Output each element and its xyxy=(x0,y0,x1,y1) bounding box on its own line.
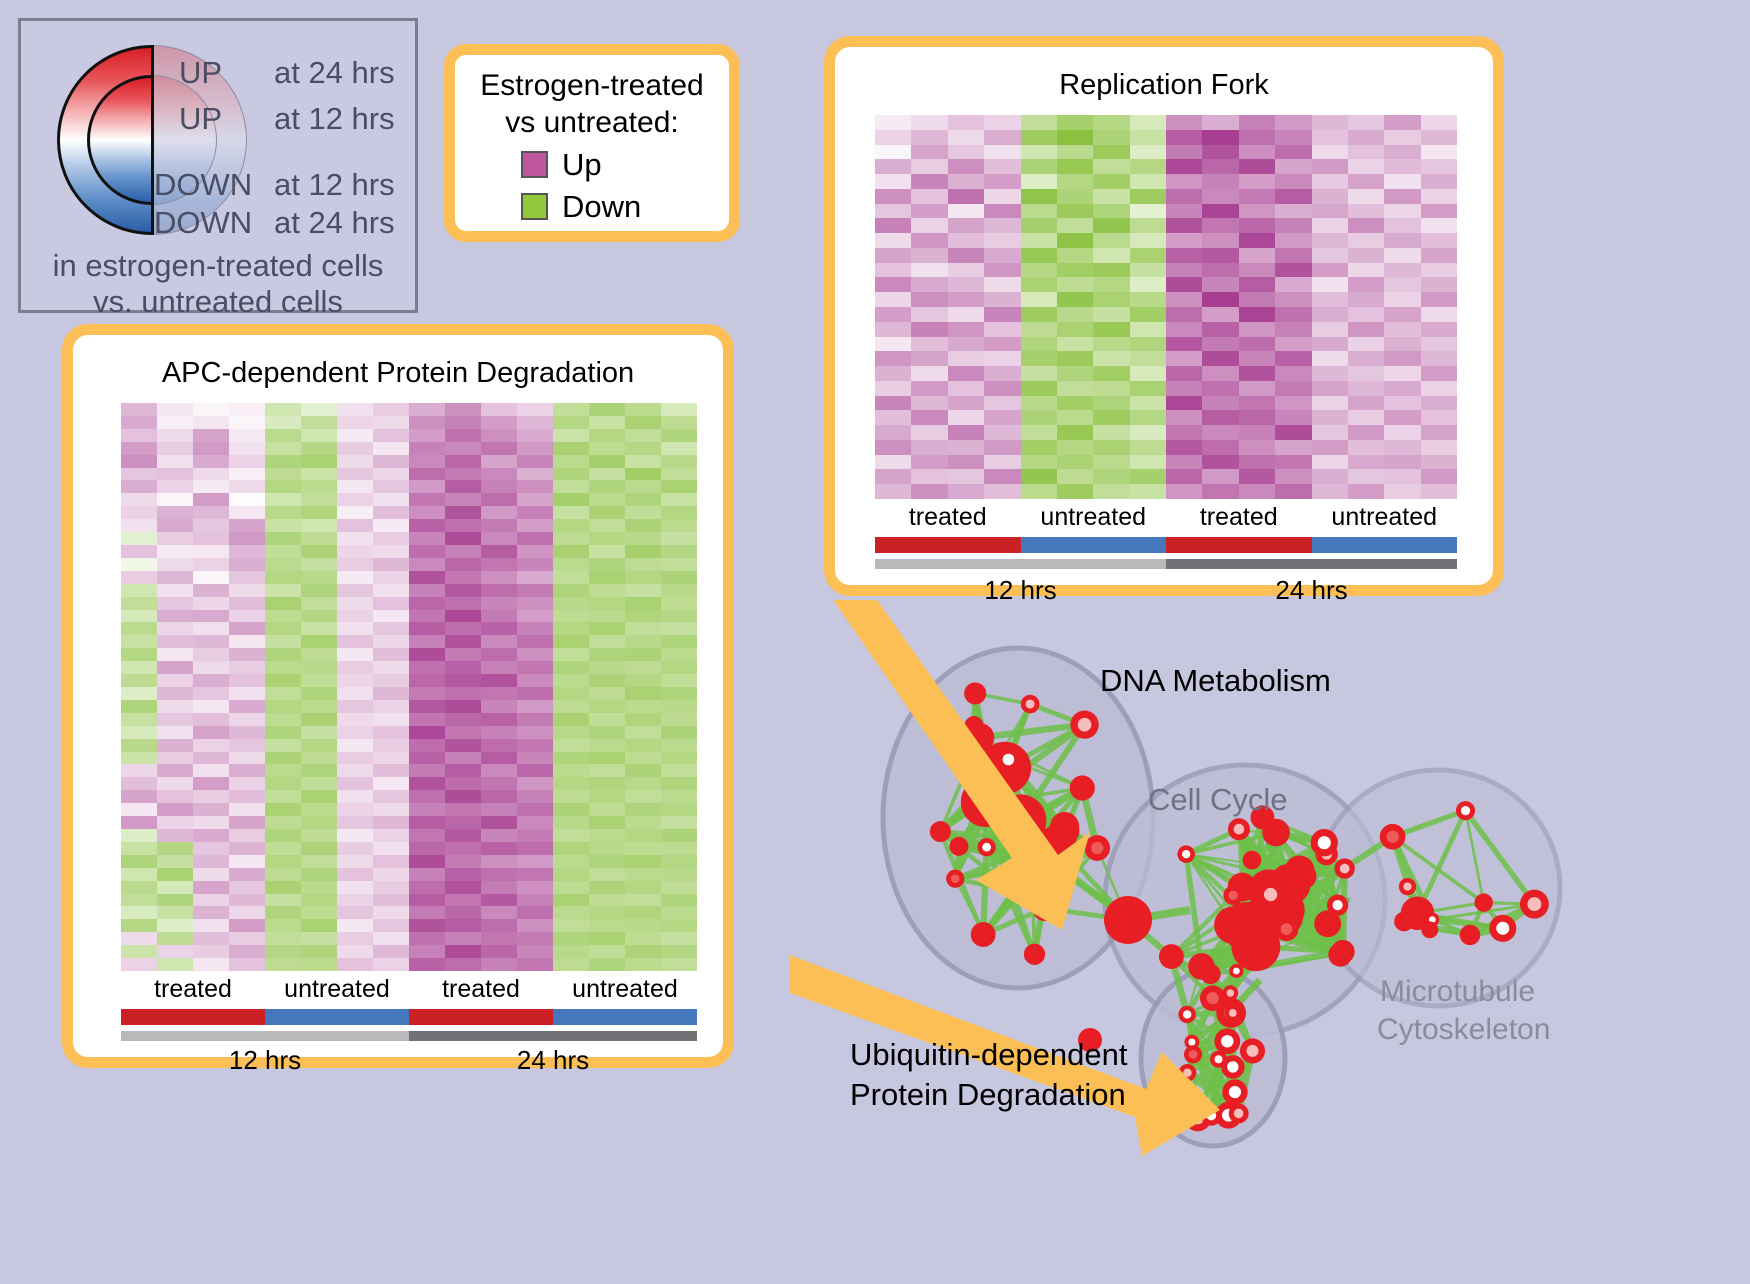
heatmap-cell xyxy=(911,322,947,337)
panel-apc-title: APC-dependent Protein Degradation xyxy=(73,357,723,390)
heatmap-cell xyxy=(517,571,553,584)
heatmap-cell xyxy=(229,622,265,635)
heatmap-cell xyxy=(589,700,625,713)
heatmap-cell xyxy=(1093,440,1129,455)
heatmap-cell xyxy=(481,622,517,635)
heatmap-cell xyxy=(301,945,337,958)
heatmap-cell xyxy=(265,894,301,907)
heatmap-cell xyxy=(553,455,589,468)
heatmap-cell xyxy=(121,958,157,971)
heatmap-cell xyxy=(875,218,911,233)
network-node[interactable] xyxy=(964,682,986,704)
heatmap-cell xyxy=(157,855,193,868)
heatmap-cell xyxy=(193,816,229,829)
heatmap-cell xyxy=(337,648,373,661)
heatmap-cell xyxy=(337,906,373,919)
heatmap-cell xyxy=(625,919,661,932)
heatmap-cell xyxy=(1275,469,1311,484)
heatmap-cell xyxy=(1384,233,1420,248)
heatmap-cell xyxy=(661,803,697,816)
heatmap-cell xyxy=(1239,396,1275,411)
heatmap-cell xyxy=(517,894,553,907)
heatmap-cell xyxy=(121,597,157,610)
network-node[interactable] xyxy=(1394,912,1414,932)
network-node[interactable] xyxy=(1223,885,1243,905)
heatmap-cell xyxy=(1275,381,1311,396)
heatmap-cell xyxy=(409,945,445,958)
network-node[interactable] xyxy=(1399,878,1416,895)
heatmap-cell xyxy=(481,519,517,532)
network-node[interactable] xyxy=(1285,856,1315,886)
heatmap-cell xyxy=(157,752,193,765)
heatmap-cell xyxy=(1384,469,1420,484)
key-direction-up-12: UP xyxy=(179,103,222,134)
network-node[interactable] xyxy=(1188,953,1215,980)
heatmap-cell xyxy=(1384,440,1420,455)
heatmap-cell xyxy=(661,506,697,519)
network-node[interactable] xyxy=(1159,944,1184,969)
heatmap-cell xyxy=(1130,366,1166,381)
heatmap-cell xyxy=(553,597,589,610)
heatmap-cell xyxy=(517,635,553,648)
heatmap-cell xyxy=(1384,189,1420,204)
network-node[interactable] xyxy=(1243,851,1262,870)
network-node[interactable] xyxy=(949,837,968,856)
heatmap-cell xyxy=(157,571,193,584)
heatmap-cell xyxy=(445,919,481,932)
heatmap-cell xyxy=(517,752,553,765)
heatmap-cell xyxy=(911,396,947,411)
heatmap-cell xyxy=(1021,233,1057,248)
heatmap-cell xyxy=(301,661,337,674)
apc-column-labels: treateduntreatedtreateduntreated xyxy=(121,975,697,1004)
network-node[interactable] xyxy=(1421,921,1438,938)
callout-label-ubiquitin-line2: Protein Degradation xyxy=(850,1077,1126,1113)
heatmap-cell xyxy=(193,700,229,713)
heatmap-cell xyxy=(1202,410,1238,425)
heatmap-cell xyxy=(409,584,445,597)
heatmap-cell xyxy=(301,480,337,493)
heatmap-cell xyxy=(1312,425,1348,440)
heatmap-cell xyxy=(337,777,373,790)
heatmap-cell xyxy=(1421,159,1457,174)
heatmap-cell xyxy=(911,425,947,440)
heatmap-cell xyxy=(589,906,625,919)
heatmap-cell xyxy=(157,726,193,739)
network-node[interactable] xyxy=(1489,915,1516,942)
heatmap-cell xyxy=(409,790,445,803)
network-node[interactable] xyxy=(1221,1055,1245,1079)
heatmap-cell xyxy=(481,700,517,713)
heatmap-cell xyxy=(445,532,481,545)
heatmap-cell xyxy=(1057,351,1093,366)
heatmap-cell xyxy=(1421,130,1457,145)
heatmap-cell xyxy=(265,868,301,881)
heatmap-cell xyxy=(517,455,553,468)
time-bar-segment xyxy=(1166,559,1457,569)
treatment-bar-segment xyxy=(553,1009,697,1025)
heatmap-cell xyxy=(229,687,265,700)
network-node[interactable] xyxy=(1520,890,1549,919)
network-node[interactable] xyxy=(979,788,1007,816)
network-node[interactable] xyxy=(1225,1005,1241,1021)
heatmap-cell xyxy=(409,545,445,558)
heatmap-cell xyxy=(301,881,337,894)
heatmap-cell xyxy=(121,816,157,829)
heatmap-cell xyxy=(373,661,409,674)
network-node[interactable] xyxy=(1474,893,1492,911)
heatmap-cell xyxy=(337,506,373,519)
network-node[interactable] xyxy=(930,821,951,842)
heatmap-cell xyxy=(661,622,697,635)
heatmap-cell xyxy=(1348,292,1384,307)
network-node[interactable] xyxy=(1460,925,1481,946)
heatmap-cell xyxy=(517,416,553,429)
heatmap-cell xyxy=(1421,145,1457,160)
heatmap-cell xyxy=(589,855,625,868)
heatmap-cell xyxy=(193,635,229,648)
heatmap-cell xyxy=(301,919,337,932)
heatmap-cell xyxy=(193,442,229,455)
heatmap-cell xyxy=(481,545,517,558)
heatmap-cell xyxy=(948,455,984,470)
network-node[interactable] xyxy=(996,747,1020,771)
heatmap-cell xyxy=(229,945,265,958)
heatmap-cell xyxy=(625,713,661,726)
heatmap-cell xyxy=(121,919,157,932)
heatmap-cell xyxy=(948,115,984,130)
heatmap-cell xyxy=(553,532,589,545)
heatmap-cell xyxy=(984,351,1020,366)
heatmap-cell xyxy=(589,506,625,519)
heatmap-cell xyxy=(1166,322,1202,337)
heatmap-cell xyxy=(1130,248,1166,263)
heatmap-cell xyxy=(1239,130,1275,145)
heatmap-cell xyxy=(1021,440,1057,455)
heatmap-cell xyxy=(948,396,984,411)
heatmap-cell xyxy=(1130,381,1166,396)
heatmap-cell xyxy=(229,764,265,777)
cluster-label-cytoskeleton: Cytoskeleton xyxy=(1377,1013,1550,1047)
heatmap-cell xyxy=(1202,322,1238,337)
heatmap-cell xyxy=(984,159,1020,174)
heatmap-cell xyxy=(337,429,373,442)
heatmap-cell xyxy=(445,635,481,648)
heatmap-cell xyxy=(157,506,193,519)
heatmap-cell xyxy=(517,868,553,881)
heatmap-cell xyxy=(1384,425,1420,440)
heatmap-cell xyxy=(1312,189,1348,204)
heatmap-cell xyxy=(301,958,337,971)
heatmap-cell xyxy=(445,816,481,829)
heatmap-cell xyxy=(193,429,229,442)
network-node[interactable] xyxy=(1222,1079,1248,1105)
heatmap-cell xyxy=(625,803,661,816)
heatmap-cell xyxy=(589,881,625,894)
heatmap-cell xyxy=(373,442,409,455)
network-node[interactable] xyxy=(1380,824,1406,850)
heatmap-cell xyxy=(948,410,984,425)
heatmap-cell xyxy=(589,597,625,610)
heatmap-cell xyxy=(409,416,445,429)
heatmap-cell xyxy=(157,881,193,894)
heatmap-cell xyxy=(1275,455,1311,470)
network-node[interactable] xyxy=(1334,858,1354,878)
heatmap-cell xyxy=(661,429,697,442)
heatmap-cell xyxy=(1202,233,1238,248)
heatmap-cell xyxy=(229,661,265,674)
heatmap-cell xyxy=(229,790,265,803)
heatmap-cell xyxy=(373,648,409,661)
heatmap-cell xyxy=(984,115,1020,130)
pathway-network-diagram: DNA Metabolism Cell Cycle Microtubule Cy… xyxy=(790,600,1750,1279)
heatmap-cell xyxy=(553,932,589,945)
heatmap-cell xyxy=(553,868,589,881)
heatmap-cell xyxy=(193,713,229,726)
heatmap-cell xyxy=(1239,263,1275,278)
network-node[interactable] xyxy=(1214,1028,1240,1054)
heatmap-cell xyxy=(229,752,265,765)
heatmap-cell xyxy=(121,584,157,597)
network-node[interactable] xyxy=(1229,964,1243,978)
heatmap-cell xyxy=(409,855,445,868)
heatmap-cell xyxy=(984,204,1020,219)
heatmap-cell xyxy=(875,145,911,160)
heatmap-cell xyxy=(373,597,409,610)
heatmap-cell xyxy=(875,366,911,381)
network-node[interactable] xyxy=(1240,1038,1265,1063)
heatmap-cell xyxy=(1021,307,1057,322)
heatmap-cell xyxy=(337,881,373,894)
heatmap-cell xyxy=(875,115,911,130)
heatmap-cell xyxy=(265,597,301,610)
heatmap-cell xyxy=(409,661,445,674)
heatmap-cell xyxy=(1093,159,1129,174)
heatmap-cell xyxy=(1093,469,1129,484)
heatmap-cell xyxy=(409,493,445,506)
heatmap-cell xyxy=(1348,351,1384,366)
heatmap-cell xyxy=(553,442,589,455)
heatmap-cell xyxy=(265,610,301,623)
heatmap-cell xyxy=(121,545,157,558)
time-bar-segment xyxy=(409,1031,697,1041)
heatmap-cell xyxy=(1057,292,1093,307)
network-node[interactable] xyxy=(1262,819,1290,847)
heatmap-cell xyxy=(625,855,661,868)
heatmap-cell xyxy=(1312,322,1348,337)
legend-item-up: Up xyxy=(521,149,602,180)
heatmap-cell xyxy=(265,584,301,597)
heatmap-cell xyxy=(1057,410,1093,425)
heatmap-cell xyxy=(481,493,517,506)
heatmap-cell xyxy=(1202,455,1238,470)
heatmap-cell xyxy=(875,351,911,366)
network-node[interactable] xyxy=(1070,775,1095,800)
network-node[interactable] xyxy=(977,838,995,856)
heatmap-cell xyxy=(301,610,337,623)
heatmap-cell xyxy=(948,322,984,337)
heatmap-cell xyxy=(661,571,697,584)
heatmap-cell xyxy=(911,307,947,322)
heatmap-cell xyxy=(121,648,157,661)
heatmap-cell xyxy=(1093,425,1129,440)
network-node[interactable] xyxy=(1314,910,1341,937)
heatmap-cell xyxy=(265,855,301,868)
heatmap-cell xyxy=(517,403,553,416)
heatmap-cell xyxy=(1421,248,1457,263)
heatmap-cell xyxy=(661,674,697,687)
heatmap-cell xyxy=(193,661,229,674)
heatmap-cell xyxy=(1093,115,1129,130)
heatmap-cell xyxy=(1239,174,1275,189)
network-node[interactable] xyxy=(1178,1006,1195,1023)
heatmap-cell xyxy=(1093,322,1129,337)
heatmap-cell xyxy=(265,571,301,584)
heatmap-cell xyxy=(229,894,265,907)
heatmap-cell xyxy=(157,958,193,971)
heatmap-cell xyxy=(1130,218,1166,233)
heatmap-cell xyxy=(121,687,157,700)
heatmap-cell xyxy=(445,610,481,623)
heatmap-cell xyxy=(911,204,947,219)
heatmap-cell xyxy=(481,635,517,648)
heatmap-cell xyxy=(589,919,625,932)
heatmap-cell xyxy=(1348,248,1384,263)
heatmap-cell xyxy=(984,307,1020,322)
heatmap-cell xyxy=(409,648,445,661)
network-node[interactable] xyxy=(1070,711,1098,739)
heatmap-cell xyxy=(265,545,301,558)
network-node[interactable] xyxy=(1021,695,1040,714)
network-node[interactable] xyxy=(1032,895,1058,921)
network-node[interactable] xyxy=(1331,940,1355,964)
network-node[interactable] xyxy=(1177,845,1195,863)
heatmap-cell xyxy=(1348,189,1384,204)
heatmap-cell xyxy=(1384,248,1420,263)
heatmap-cell xyxy=(589,622,625,635)
heatmap-cell xyxy=(445,958,481,971)
heatmap-cell xyxy=(1421,440,1457,455)
heatmap-cell xyxy=(553,622,589,635)
network-node[interactable] xyxy=(1179,1064,1197,1082)
cluster-label-dna-metabolism: DNA Metabolism xyxy=(1100,663,1331,699)
heatmap-cell xyxy=(589,803,625,816)
network-node[interactable] xyxy=(1184,1045,1202,1063)
network-node[interactable] xyxy=(1084,835,1110,861)
heatmap-cell xyxy=(193,648,229,661)
network-node[interactable] xyxy=(1038,851,1062,875)
heatmap-cell xyxy=(984,277,1020,292)
heatmap-cell xyxy=(157,739,193,752)
heatmap-cell xyxy=(1421,337,1457,352)
treatment-bar-segment xyxy=(1021,537,1167,553)
heatmap-cell xyxy=(1021,455,1057,470)
network-node[interactable] xyxy=(1228,818,1250,840)
heatmap-cell xyxy=(337,403,373,416)
heatmap-cell xyxy=(1275,263,1311,278)
heatmap-cell xyxy=(337,519,373,532)
heatmap-cell xyxy=(409,881,445,894)
network-node[interactable] xyxy=(1229,1103,1249,1123)
heatmap-cell xyxy=(265,739,301,752)
heatmap-cell xyxy=(445,700,481,713)
heatmap-cell xyxy=(193,945,229,958)
heatmap-cell xyxy=(193,532,229,545)
network-node[interactable] xyxy=(1021,837,1042,858)
heatmap-cell xyxy=(1421,425,1457,440)
heatmap-cell xyxy=(911,159,947,174)
heatmap-cell xyxy=(301,739,337,752)
network-node[interactable] xyxy=(1201,1105,1221,1125)
heatmap-cell xyxy=(1421,351,1457,366)
heatmap-cell xyxy=(157,442,193,455)
network-node[interactable] xyxy=(1052,817,1079,844)
network-node[interactable] xyxy=(1104,896,1152,944)
heatmap-cell xyxy=(337,455,373,468)
network-node[interactable] xyxy=(966,723,995,752)
heatmap-cell xyxy=(193,674,229,687)
heatmap-cell xyxy=(1239,277,1275,292)
heatmap-cell xyxy=(589,842,625,855)
heatmap-cell xyxy=(1275,277,1311,292)
network-node[interactable] xyxy=(1005,883,1022,900)
heatmap-cell xyxy=(229,906,265,919)
heatmap-cell xyxy=(373,752,409,765)
treatment-bar-segment xyxy=(875,537,1021,553)
heatmap-cell xyxy=(193,403,229,416)
heatmap-cell xyxy=(445,519,481,532)
heatmap-cell xyxy=(193,455,229,468)
network-node[interactable] xyxy=(1311,829,1338,856)
heatmap-cell xyxy=(625,429,661,442)
heatmap-cell xyxy=(625,687,661,700)
heatmap-cell xyxy=(229,429,265,442)
network-node[interactable] xyxy=(971,922,996,947)
network-node[interactable] xyxy=(1456,801,1475,820)
heatmap-cell xyxy=(1348,469,1384,484)
heatmap-cell xyxy=(625,610,661,623)
heatmap-cell xyxy=(1093,218,1129,233)
column-group-label: treated xyxy=(121,975,265,1004)
heatmap-cell xyxy=(1166,174,1202,189)
network-node[interactable] xyxy=(1200,985,1226,1011)
heatmap-cell xyxy=(911,484,947,499)
heatmap-cell xyxy=(1275,410,1311,425)
network-node[interactable] xyxy=(1024,944,1045,965)
heatmap-cell xyxy=(1057,189,1093,204)
network-node[interactable] xyxy=(1274,917,1298,941)
heatmap-cell xyxy=(517,906,553,919)
heatmap-cell xyxy=(481,442,517,455)
heatmap-cell xyxy=(553,687,589,700)
heatmap-cell xyxy=(265,648,301,661)
heatmap-cell xyxy=(1384,277,1420,292)
key-time-down-24: at 24 hrs xyxy=(274,207,395,238)
network-node[interactable] xyxy=(946,870,964,888)
heatmap-cell xyxy=(337,700,373,713)
heatmap-cell xyxy=(1239,440,1275,455)
heatmap-cell xyxy=(1348,484,1384,499)
heatmap-cell xyxy=(481,597,517,610)
heatmap-cell xyxy=(373,932,409,945)
heatmap-cell xyxy=(661,480,697,493)
heatmap-cell xyxy=(875,469,911,484)
heatmap-cell xyxy=(193,752,229,765)
heatmap-cell xyxy=(301,622,337,635)
heatmap-cell xyxy=(661,816,697,829)
heatmap-cell xyxy=(1275,484,1311,499)
heatmap-cell xyxy=(911,410,947,425)
